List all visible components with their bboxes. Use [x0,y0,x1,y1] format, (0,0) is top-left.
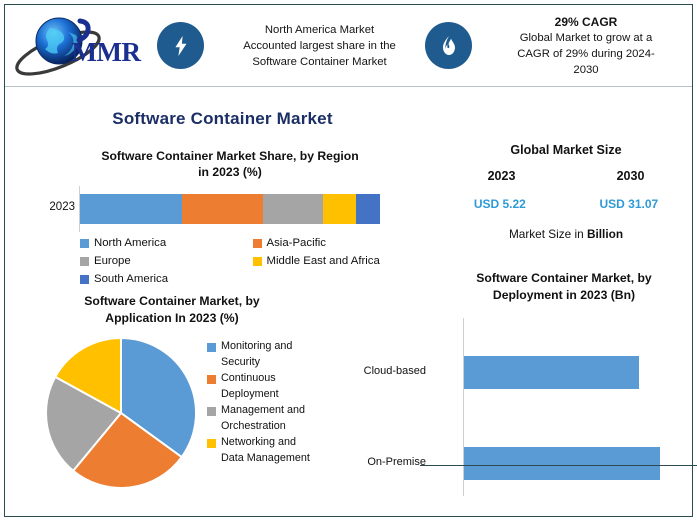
header-highlight-north-america: North America Market Accounted largest s… [157,22,425,70]
deployment-category-label: Cloud-based [336,365,426,377]
legend-swatch-icon [80,275,89,284]
deployment-chart-title: Software Container Market, by Deployment… [430,270,697,304]
header-highlight-cagr: 29% CAGR Global Market to grow at a CAGR… [425,14,690,78]
gms-footnote-prefix: Market Size in [509,227,587,241]
region-segment-3 [323,194,356,224]
cagr-line-3: 2030 [482,62,690,78]
gms-value-2023: USD 5.22 [474,197,526,211]
region-bar-plot: 2023 [35,186,425,232]
deployment-bar-chart: Software Container Market, by Deployment… [430,270,697,503]
region-legend-label: Middle East and Africa [267,252,380,270]
header-line-1: North America Market [214,22,425,38]
header-line-3: Software Container Market [214,54,425,70]
brand-logo-text: MMR [72,37,141,68]
deployment-title-line-2: Deployment in 2023 (Bn) [430,287,697,304]
cagr-headline: 29% CAGR [482,14,690,30]
region-legend-item: North America [80,234,253,252]
gms-value-2030: USD 31.07 [599,197,658,211]
legend-swatch-icon [207,343,216,352]
cagr-line-2: CAGR of 29% during 2024- [482,46,690,62]
deployment-title-line-1: Software Container Market, by [430,270,697,287]
region-title-line-2: in 2023 (%) [35,164,425,180]
region-legend-label: Asia-Pacific [267,234,327,252]
header-line-2: Accounted largest share in the [214,38,425,54]
page-title: Software Container Market [5,109,440,129]
header-bar: MMR North America Market Accounted large… [5,5,692,86]
legend-swatch-icon [253,239,262,248]
region-legend-item: Middle East and Africa [253,252,426,270]
region-segment-0 [80,194,182,224]
region-legend-label: South America [94,270,168,288]
pie-legend-item: Management andOrchestration [207,403,422,434]
header-highlight-text: North America Market Accounted largest s… [214,22,425,70]
region-share-chart: Software Container Market Share, by Regi… [35,148,425,288]
region-category-label: 2023 [35,201,75,213]
region-stacked-bar [80,194,380,224]
pie-legend: Monitoring andSecurityContinuousDeployme… [207,339,422,467]
pie-chart-title: Software Container Market, by Applicatio… [27,293,317,327]
pie-legend-label: Management andOrchestration [221,403,305,434]
gms-year-2023: 2023 [488,169,516,183]
lightning-bolt-icon [157,22,204,69]
region-legend-item: Asia-Pacific [253,234,426,252]
pie-title-line-1: Software Container Market, by [27,293,317,310]
cagr-line-1: Global Market to grow at a [482,30,690,46]
global-market-size-title: Global Market Size [437,143,695,157]
region-legend-item: Europe [80,252,253,270]
region-segment-1 [182,194,263,224]
bottom-rule [420,465,697,466]
legend-swatch-icon [80,239,89,248]
pie-title-line-2: Application In 2023 (%) [27,310,317,327]
header-divider [5,86,692,87]
deployment-category-label: On-Premise [336,456,426,468]
flame-icon [425,22,472,69]
region-legend-label: Europe [94,252,131,270]
pie-graphic [45,337,197,489]
legend-swatch-icon [207,375,216,384]
deployment-plot-area: Cloud-basedOn-Premise [430,318,697,503]
infographic-frame: MMR North America Market Accounted large… [4,4,693,517]
pie-legend-label: ContinuousDeployment [221,371,279,402]
legend-swatch-icon [207,439,216,448]
legend-swatch-icon [207,407,216,416]
deployment-bar-0 [464,356,639,389]
header-cagr-text: 29% CAGR Global Market to grow at a CAGR… [482,14,690,78]
gms-footnote: Market Size in Billion [437,227,695,241]
brand-logo: MMR [5,5,157,86]
global-market-size-panel: Global Market Size 2023 2030 USD 5.22 US… [437,143,695,241]
gms-footnote-unit: Billion [587,227,623,241]
region-segment-2 [263,194,323,224]
region-legend: North AmericaAsia-PacificEuropeMiddle Ea… [80,234,425,288]
region-legend-item: South America [80,270,253,288]
deployment-bar-1 [464,447,660,480]
region-chart-title: Software Container Market Share, by Regi… [35,148,425,180]
legend-swatch-icon [253,257,262,266]
gms-year-2030: 2030 [617,169,645,183]
pie-legend-label: Networking andData Management [221,435,310,466]
pie-legend-label: Monitoring andSecurity [221,339,292,370]
region-segment-4 [356,194,380,224]
region-title-line-1: Software Container Market Share, by Regi… [35,148,425,164]
legend-swatch-icon [80,257,89,266]
region-legend-label: North America [94,234,166,252]
